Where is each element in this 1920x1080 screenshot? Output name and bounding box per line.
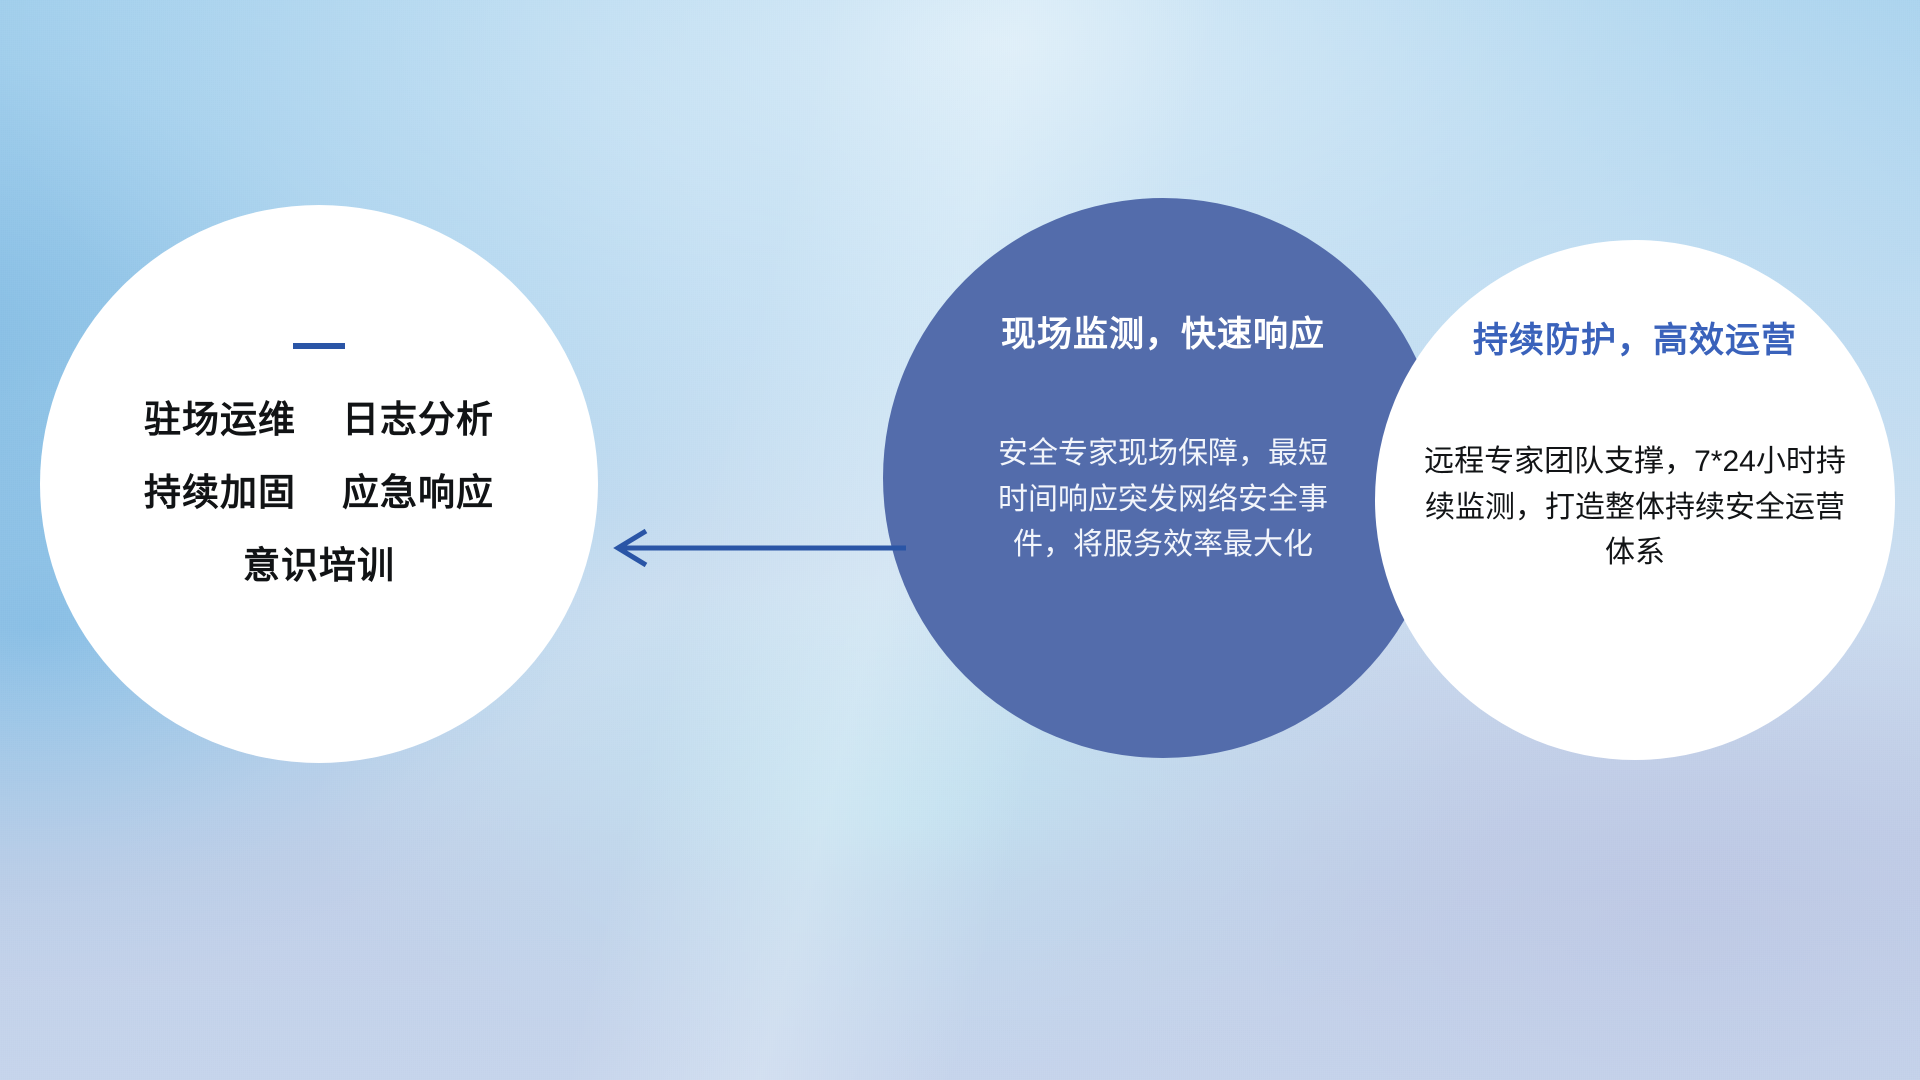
middle-circle-body: 安全专家现场保障，最短时间响应突发网络安全事件，将服务效率最大化 [998, 431, 1328, 568]
keyword-row: 持续加固 应急响应 [144, 474, 494, 513]
arrow-left-icon [596, 520, 908, 576]
keyword-item: 应急响应 [342, 474, 494, 513]
keyword-row: 驻场运维 日志分析 [144, 401, 494, 440]
right-circle-content: 持续防护，高效运营 远程专家团队支撑，7*24小时持续监测，打造整体持续安全运营… [1375, 240, 1895, 760]
keyword-item: 驻场运维 [144, 401, 296, 440]
keyword-item: 意识培训 [243, 547, 395, 586]
right-circle-title: 持续防护，高效运营 [1473, 312, 1797, 363]
keyword-item: 日志分析 [342, 401, 494, 440]
left-circle-content: 驻场运维 日志分析 持续加固 应急响应 意识培训 [40, 205, 598, 763]
right-circle-body: 远程专家团队支撑，7*24小时持续监测，打造整体持续安全运营体系 [1415, 439, 1855, 576]
short-rule-divider-icon [293, 343, 345, 349]
middle-circle-title: 现场监测，快速响应 [1001, 306, 1325, 357]
keyword-row: 意识培训 [243, 547, 395, 586]
middle-circle-content: 现场监测，快速响应 安全专家现场保障，最短时间响应突发网络安全事件，将服务效率最… [883, 198, 1443, 758]
slide-canvas: 现场监测，快速响应 安全专家现场保障，最短时间响应突发网络安全事件，将服务效率最… [0, 0, 1920, 1080]
keyword-item: 持续加固 [144, 474, 296, 513]
